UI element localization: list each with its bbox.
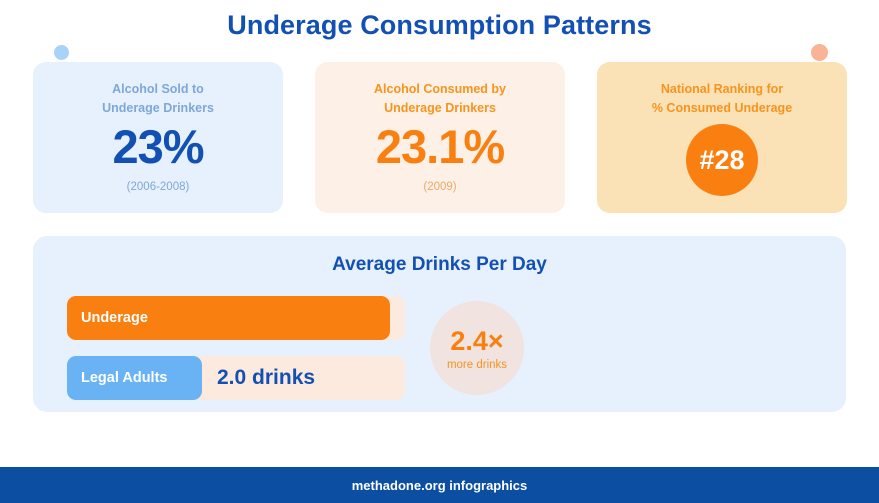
stat-card-label-line2: Underage Drinkers — [315, 99, 565, 118]
bar-value-legal-adults: 2.0 drinks — [217, 356, 315, 400]
stat-card-label: Alcohol Sold to Underage Drinkers — [33, 80, 283, 118]
decorative-dot-blue-icon — [54, 45, 69, 60]
stat-card-label-line1: Alcohol Consumed by — [315, 80, 565, 99]
multiplier-value: 2.4× — [450, 326, 503, 356]
footer-bar: methadone.org infographics — [0, 467, 879, 503]
stat-card-label-line1: National Ranking for — [597, 80, 847, 99]
stat-card-alcohol-sold: Alcohol Sold to Underage Drinkers 23% (2… — [33, 62, 283, 213]
rank-badge: #28 — [686, 124, 758, 196]
panel-title: Average Drinks Per Day — [33, 236, 846, 276]
average-drinks-panel: Average Drinks Per Day Underage Legal Ad… — [33, 236, 846, 412]
bar-row-legal-adults: Legal Adults 2.0 drinks — [67, 356, 405, 400]
bar-fill-underage: Underage — [67, 296, 390, 340]
bar-row-underage: Underage — [67, 296, 405, 340]
stat-card-label: Alcohol Consumed by Underage Drinkers — [315, 80, 565, 118]
footer-text: methadone.org infographics — [352, 478, 528, 493]
page-title: Underage Consumption Patterns — [0, 10, 879, 41]
multiplier-badge: 2.4× more drinks — [430, 301, 524, 395]
stat-card-value: 23.1% — [315, 120, 565, 174]
decorative-dot-orange-icon — [811, 44, 828, 61]
bar-chart: Underage Legal Adults 2.0 drinks — [67, 296, 405, 416]
stat-card-label-line2: % Consumed Underage — [597, 99, 847, 118]
stat-card-label: National Ranking for % Consumed Underage — [597, 80, 847, 118]
bar-label-legal-adults: Legal Adults — [81, 370, 167, 386]
infographic-canvas: Underage Consumption Patterns Alcohol So… — [0, 0, 879, 503]
stat-card-alcohol-consumed: Alcohol Consumed by Underage Drinkers 23… — [315, 62, 565, 213]
stat-card-note: (2006-2008) — [33, 181, 283, 193]
stat-card-note: (2009) — [315, 181, 565, 193]
multiplier-note: more drinks — [447, 359, 507, 371]
bar-fill-legal-adults: Legal Adults — [67, 356, 202, 400]
stat-card-national-ranking: National Ranking for % Consumed Underage… — [597, 62, 847, 213]
bar-label-underage: Underage — [81, 310, 148, 326]
stat-card-label-line2: Underage Drinkers — [33, 99, 283, 118]
stat-card-label-line1: Alcohol Sold to — [33, 80, 283, 99]
stat-card-value: 23% — [33, 120, 283, 174]
